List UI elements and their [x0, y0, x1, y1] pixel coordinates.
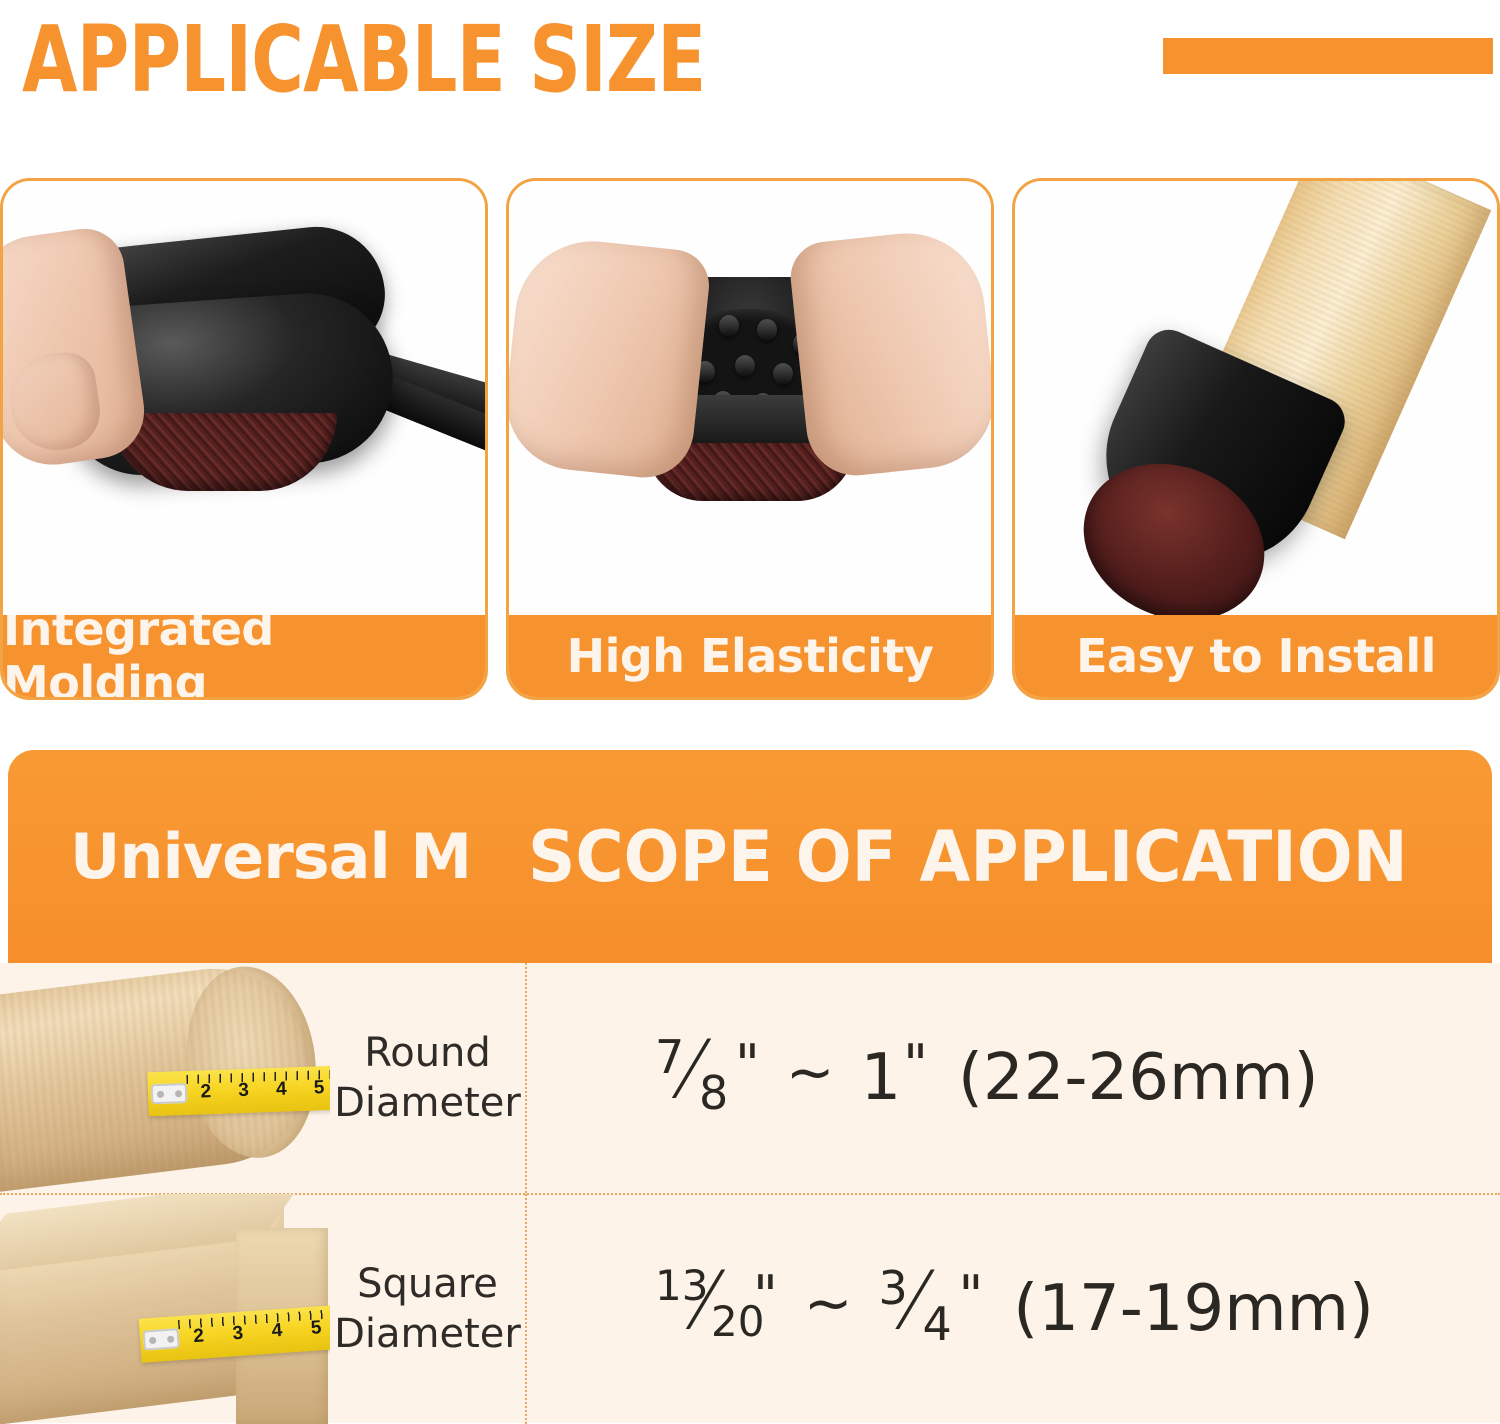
tape-measure: 2 3 4 5	[147, 1066, 330, 1117]
inch-mark: "	[735, 1033, 760, 1096]
round-wood-end-face	[176, 963, 326, 1165]
row-value: 13 ⁄ 20 " ~ 3 ⁄ 4 " (17-19mm)	[527, 1272, 1500, 1346]
feature-card-integrated-molding[interactable]: Integrated Molding	[0, 178, 488, 700]
tape-number: 4	[257, 1319, 298, 1344]
range-symbol: ~	[804, 1269, 853, 1337]
table-row: 2 3 4 5 Square Diameter 13 ⁄ 20 " ~	[0, 1193, 1500, 1423]
tape-number: 2	[178, 1324, 219, 1349]
row-label-line1: Square	[330, 1259, 525, 1309]
tape-numbers: 2 3 4 5	[187, 1077, 330, 1104]
fraction-numerator: 7	[655, 1030, 684, 1084]
fraction-numerator: 3	[878, 1261, 907, 1315]
range-symbol: ~	[786, 1038, 835, 1106]
feature-card-caption: Integrated Molding	[3, 615, 485, 697]
tape-number: 4	[262, 1078, 300, 1101]
inch-mark: "	[753, 1264, 778, 1327]
photo-leg-with-cap-installed	[1015, 181, 1497, 615]
fraction-denominator: 4	[922, 1297, 951, 1351]
metric-value: (22-26mm)	[958, 1041, 1319, 1115]
title-accent-bar	[1163, 38, 1493, 74]
square-leg-image: 2 3 4 5	[0, 1194, 330, 1424]
tape-number: 5	[300, 1077, 330, 1100]
row-label-line2: Diameter	[330, 1309, 525, 1359]
row-value: 7 ⁄ 8 " ~ 1 " (22-26mm)	[527, 1041, 1500, 1115]
spec-table: 2 3 4 5 Round Diameter 7 ⁄ 8 " ~ 1	[0, 963, 1500, 1423]
fraction-slash: ⁄	[685, 1026, 698, 1116]
row-label-line1: Round	[330, 1028, 525, 1078]
fraction-three-quarters: 3 ⁄ 4	[878, 1273, 956, 1345]
inch-mark: "	[903, 1033, 928, 1096]
tape-number: 5	[296, 1316, 330, 1341]
feature-card-caption: High Elasticity	[509, 615, 991, 697]
feature-card-list: Integrated Molding High Elasticity Easy …	[0, 178, 1500, 698]
tape-hook	[151, 1083, 188, 1104]
tape-hook	[143, 1328, 180, 1350]
feature-card-high-elasticity[interactable]: High Elasticity	[506, 178, 994, 700]
tape-number: 3	[218, 1322, 259, 1347]
photo-hand-peeling-cap	[3, 181, 485, 615]
size-label: Universal M	[8, 820, 528, 893]
page-title: APPLICABLE SIZE	[22, 14, 706, 106]
photo-hands-stretching-cap	[509, 181, 991, 615]
tape-ticks: 2 3 4 5	[186, 1066, 330, 1115]
row-label-line2: Diameter	[330, 1078, 525, 1128]
tape-number: 2	[187, 1081, 225, 1104]
feature-card-caption: Easy to Install	[1015, 615, 1497, 697]
left-hand-shape	[509, 234, 713, 483]
feature-card-easy-to-install[interactable]: Easy to Install	[1012, 178, 1500, 700]
right-hand-shape	[787, 226, 991, 481]
scope-title: SCOPE OF APPLICATION	[528, 816, 1434, 898]
fraction-thirteen-twentieths: 13 ⁄ 20	[655, 1273, 751, 1345]
row-label: Square Diameter	[330, 1259, 525, 1359]
felt-pad-shape	[111, 413, 337, 491]
fraction-denominator: 8	[699, 1066, 728, 1120]
tape-number: 3	[224, 1079, 262, 1102]
metric-value: (17-19mm)	[1013, 1272, 1374, 1346]
round-leg-image: 2 3 4 5	[0, 963, 330, 1193]
fraction-seven-eighths: 7 ⁄ 8	[655, 1042, 733, 1114]
table-row: 2 3 4 5 Round Diameter 7 ⁄ 8 " ~ 1	[0, 963, 1500, 1193]
tape-numbers: 2 3 4 5	[178, 1316, 330, 1349]
row-label: Round Diameter	[330, 1028, 525, 1128]
inch-mark: "	[958, 1264, 983, 1327]
scope-banner: Universal M SCOPE OF APPLICATION	[8, 750, 1492, 963]
fraction-slash: ⁄	[908, 1257, 921, 1347]
value-to: 1	[860, 1041, 901, 1115]
